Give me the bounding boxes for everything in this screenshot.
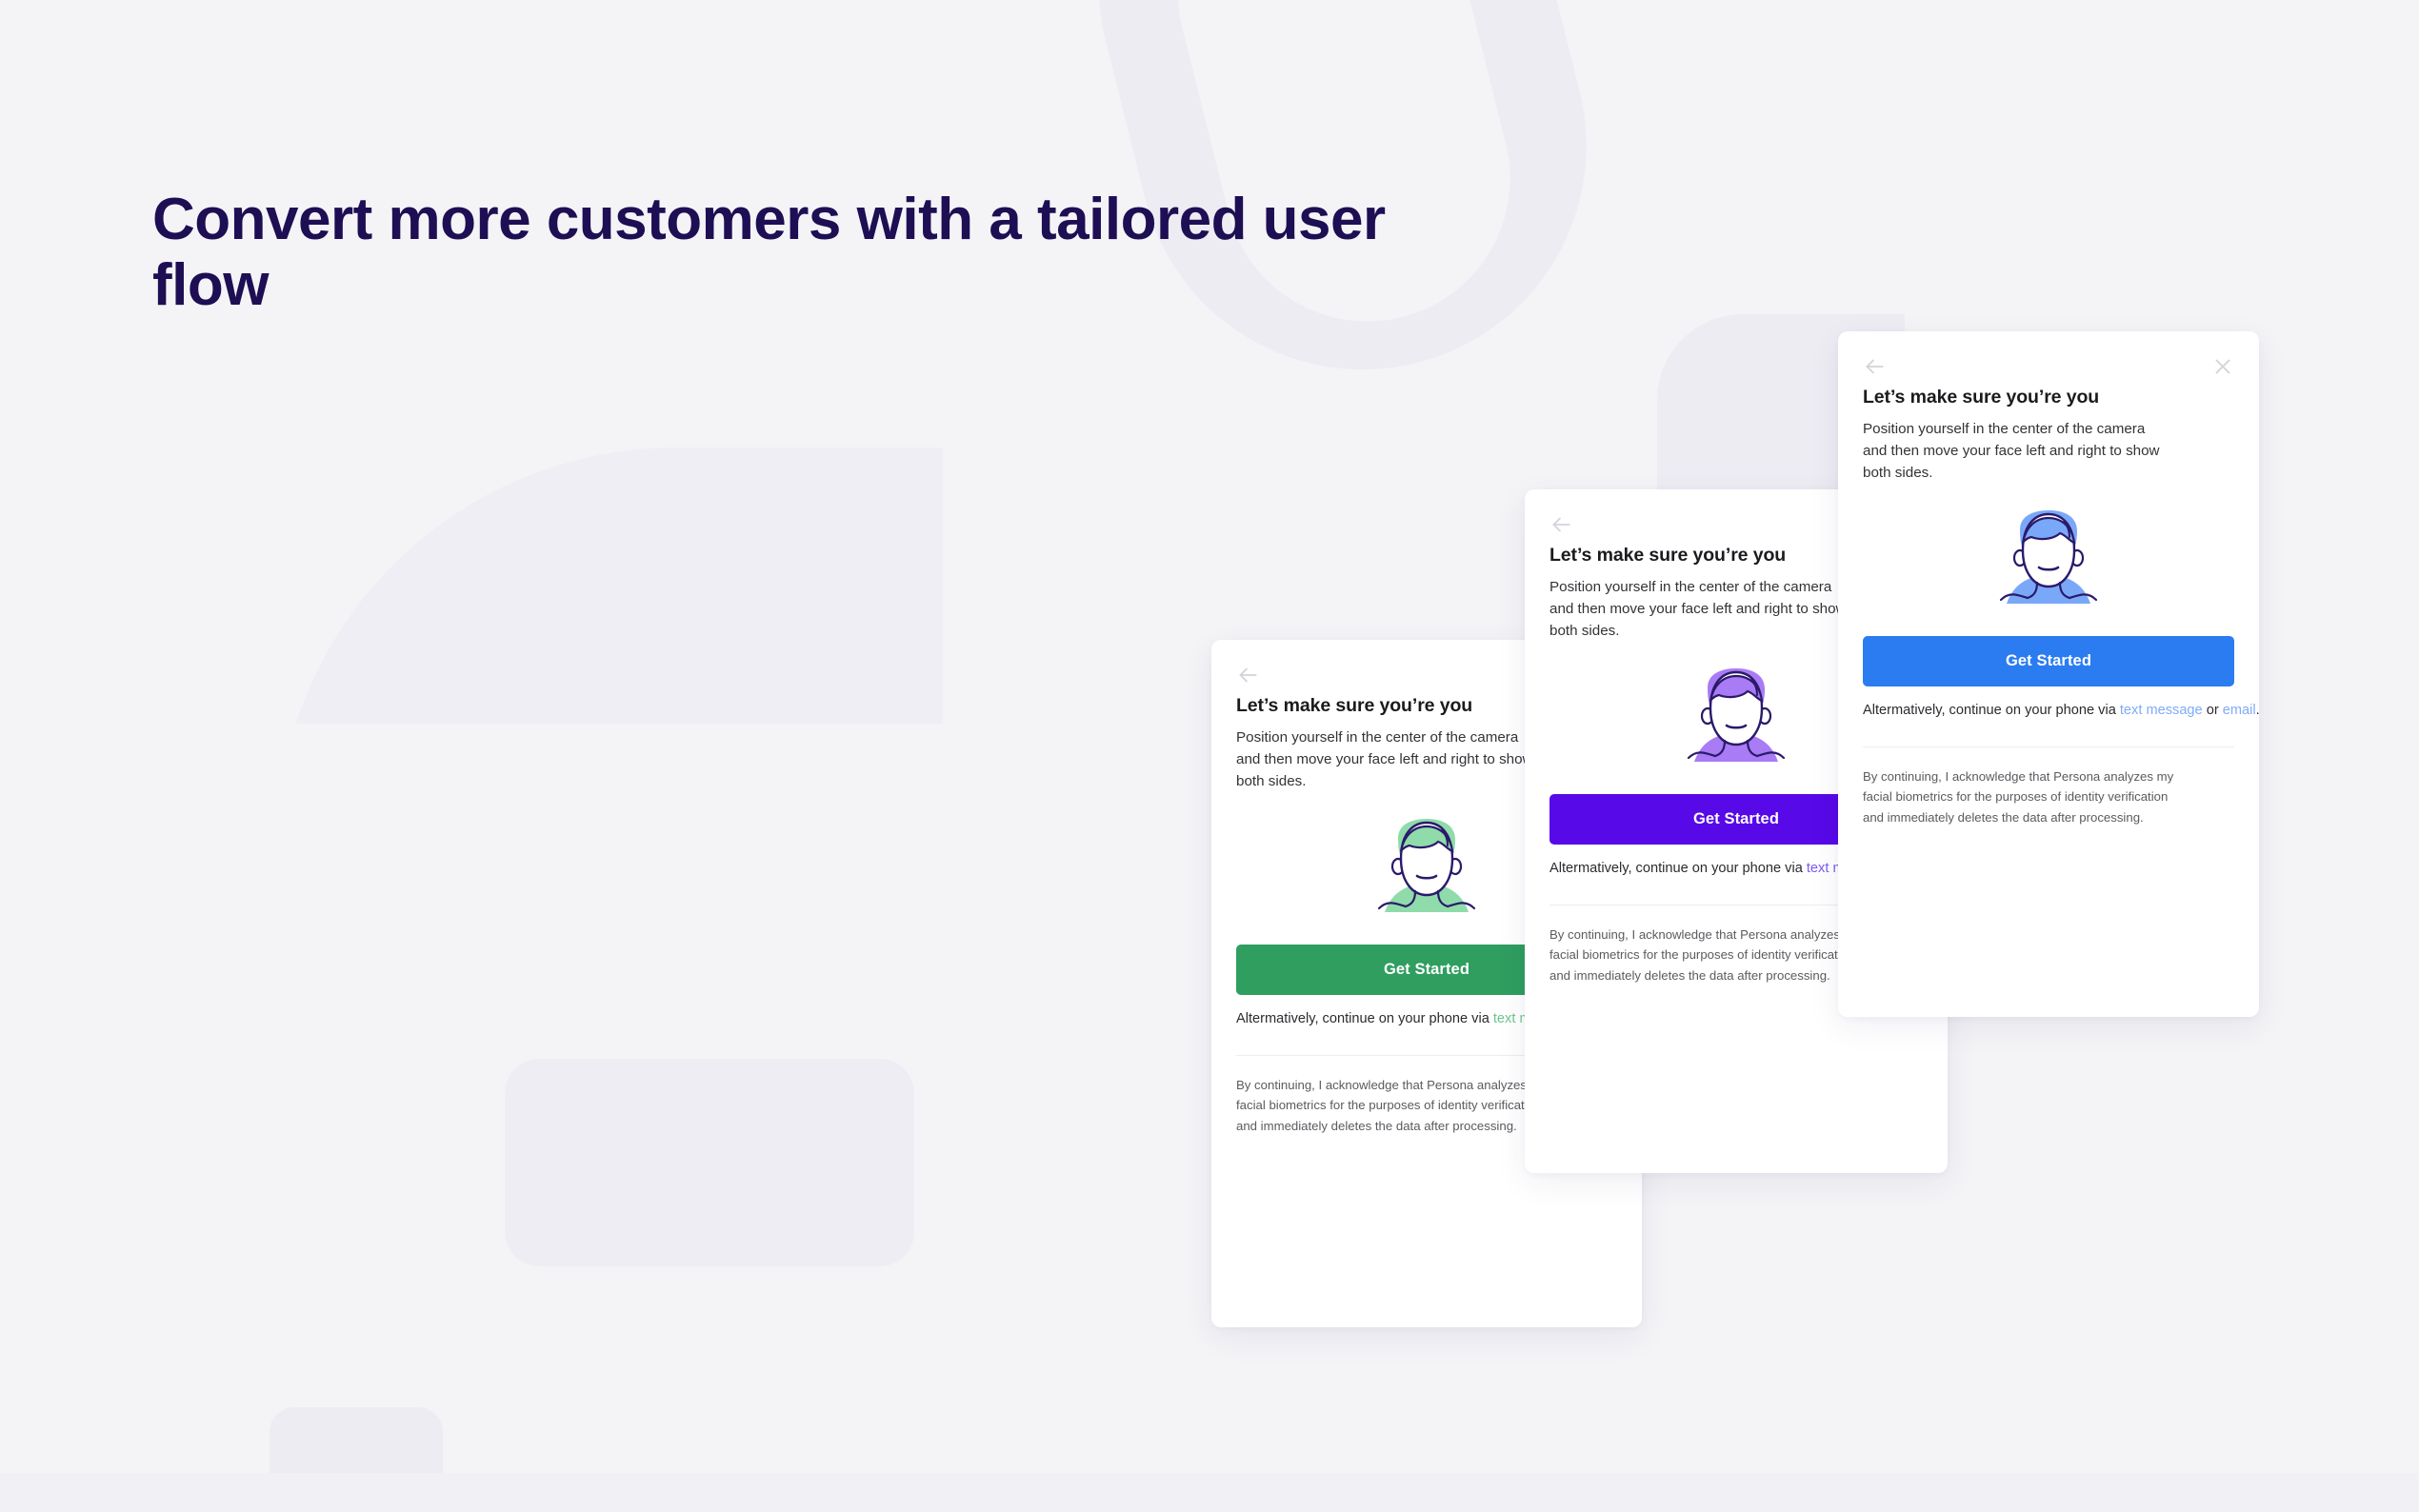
card-description-line: both sides. bbox=[1863, 462, 2234, 484]
page-title: Convert more customers with a tailored u… bbox=[152, 187, 1409, 319]
get-started-button[interactable]: Get Started bbox=[1863, 636, 2234, 686]
alternative-contact-text: Altermatively, continue on your phone vi… bbox=[1863, 700, 2234, 722]
card-body: Let’s make sure you’re you Position your… bbox=[1838, 387, 2259, 827]
card-description-line: and then move your face left and right t… bbox=[1863, 440, 2234, 462]
alt-prefix: Altermatively, continue on your phone vi… bbox=[1549, 861, 1807, 876]
alt-prefix: Altermatively, continue on your phone vi… bbox=[1863, 703, 2120, 718]
card-header bbox=[1838, 331, 2259, 387]
illustration-container bbox=[1863, 484, 2234, 636]
fineprint-line: and immediately deletes the data after p… bbox=[1863, 807, 2234, 827]
page-root: Convert more customers with a tailored u… bbox=[0, 0, 2419, 1512]
face-avatar-icon bbox=[1991, 508, 2106, 611]
divider bbox=[1863, 746, 2234, 747]
alt-suffix: . bbox=[2256, 703, 2259, 718]
face-avatar-icon bbox=[1679, 666, 1793, 769]
fineprint-line: By continuing, I acknowledge that Person… bbox=[1863, 766, 2234, 786]
alt-middle: or bbox=[2203, 703, 2223, 718]
card-title: Let’s make sure you’re you bbox=[1863, 387, 2234, 408]
arrow-left-icon[interactable] bbox=[1862, 354, 1887, 379]
face-avatar-icon bbox=[1369, 817, 1484, 920]
verification-card-blue[interactable]: Let’s make sure you’re you Position your… bbox=[1838, 331, 2259, 1017]
arrow-left-icon[interactable] bbox=[1549, 512, 1573, 537]
card-description-line: Position yourself in the center of the c… bbox=[1863, 418, 2234, 440]
background-blob-rounded-rect bbox=[505, 1059, 914, 1266]
arrow-left-icon[interactable] bbox=[1235, 663, 1260, 687]
legal-fineprint: By continuing, I acknowledge that Person… bbox=[1863, 766, 2234, 827]
close-icon[interactable] bbox=[2210, 354, 2235, 379]
alt-prefix: Altermatively, continue on your phone vi… bbox=[1236, 1011, 1493, 1026]
fineprint-line: facial biometrics for the purposes of id… bbox=[1863, 786, 2234, 806]
card-description: Position yourself in the center of the c… bbox=[1863, 418, 2234, 484]
email-link[interactable]: email bbox=[2223, 703, 2256, 718]
background-band-bottom bbox=[0, 1473, 2419, 1512]
text-message-link[interactable]: text message bbox=[2120, 703, 2203, 718]
